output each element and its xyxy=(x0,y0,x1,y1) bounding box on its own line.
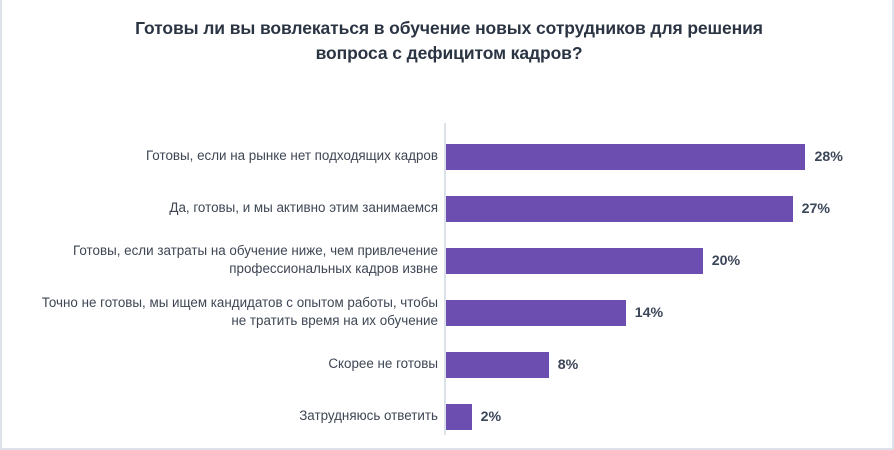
category-label-line-1: Затрудняюсь ответить xyxy=(8,407,438,425)
category-label: Затрудняюсь ответить xyxy=(8,407,438,425)
category-label: Скорее не готовы xyxy=(8,355,438,373)
category-label-line-2: профессиональных кадров извне xyxy=(8,260,438,278)
bar-value-label: 14% xyxy=(635,306,663,320)
bar-value-label: 8% xyxy=(558,358,579,372)
bar[interactable] xyxy=(446,300,626,326)
bar-wrapper: 2% xyxy=(446,404,501,430)
category-label-line-1: Готовы, если на рынке нет подходящих кад… xyxy=(8,147,438,165)
chart-title-line-1: Готовы ли вы вовлекаться в обучение новы… xyxy=(135,18,763,38)
bar-wrapper: 27% xyxy=(446,196,830,222)
bar-chart-card: Готовы ли вы вовлекаться в обучение новы… xyxy=(0,0,894,450)
bar-row: Скорее не готовы8% xyxy=(2,339,894,391)
bar-wrapper: 20% xyxy=(446,248,740,274)
bar-wrapper: 8% xyxy=(446,352,578,378)
category-label-line-1: Скорее не готовы xyxy=(8,355,438,373)
bar-rows: Готовы, если на рынке нет подходящих кад… xyxy=(2,123,894,435)
category-label-line-1: Да, готовы, и мы активно этим занимаемся xyxy=(8,199,438,217)
category-label-line-1: Точно не готовы, мы ищем кандидатов с оп… xyxy=(8,294,438,312)
bar[interactable] xyxy=(446,248,703,274)
bar-row: Затрудняюсь ответить2% xyxy=(2,391,894,443)
bar-row: Точно не готовы, мы ищем кандидатов с оп… xyxy=(2,287,894,339)
bar-wrapper: 14% xyxy=(446,300,663,326)
category-label-line-1: Готовы, если затраты на обучение ниже, ч… xyxy=(8,242,438,260)
bar-wrapper: 28% xyxy=(446,144,843,170)
bar-value-label: 20% xyxy=(712,254,740,268)
category-label-line-2: не тратить время на их обучение xyxy=(8,312,438,330)
bar[interactable] xyxy=(446,352,549,378)
bar[interactable] xyxy=(446,144,805,170)
bar-row: Да, готовы, и мы активно этим занимаемся… xyxy=(2,183,894,235)
category-label: Готовы, если затраты на обучение ниже, ч… xyxy=(8,242,438,278)
bar-value-label: 28% xyxy=(814,150,842,164)
chart-title-line-2: вопроса с дефицитом кадров? xyxy=(316,43,583,63)
chart-title: Готовы ли вы вовлекаться в обучение новы… xyxy=(99,16,799,67)
plot-area: Готовы, если на рынке нет подходящих кад… xyxy=(2,123,894,435)
category-label: Да, готовы, и мы активно этим занимаемся xyxy=(8,199,438,217)
bar-value-label: 27% xyxy=(802,202,830,216)
bar-row: Готовы, если на рынке нет подходящих кад… xyxy=(2,131,894,183)
bar-value-label: 2% xyxy=(481,410,502,424)
category-label: Готовы, если на рынке нет подходящих кад… xyxy=(8,147,438,165)
bar-row: Готовы, если затраты на обучение ниже, ч… xyxy=(2,235,894,287)
category-label: Точно не готовы, мы ищем кандидатов с оп… xyxy=(8,294,438,330)
bar[interactable] xyxy=(446,196,793,222)
bar[interactable] xyxy=(446,404,472,430)
